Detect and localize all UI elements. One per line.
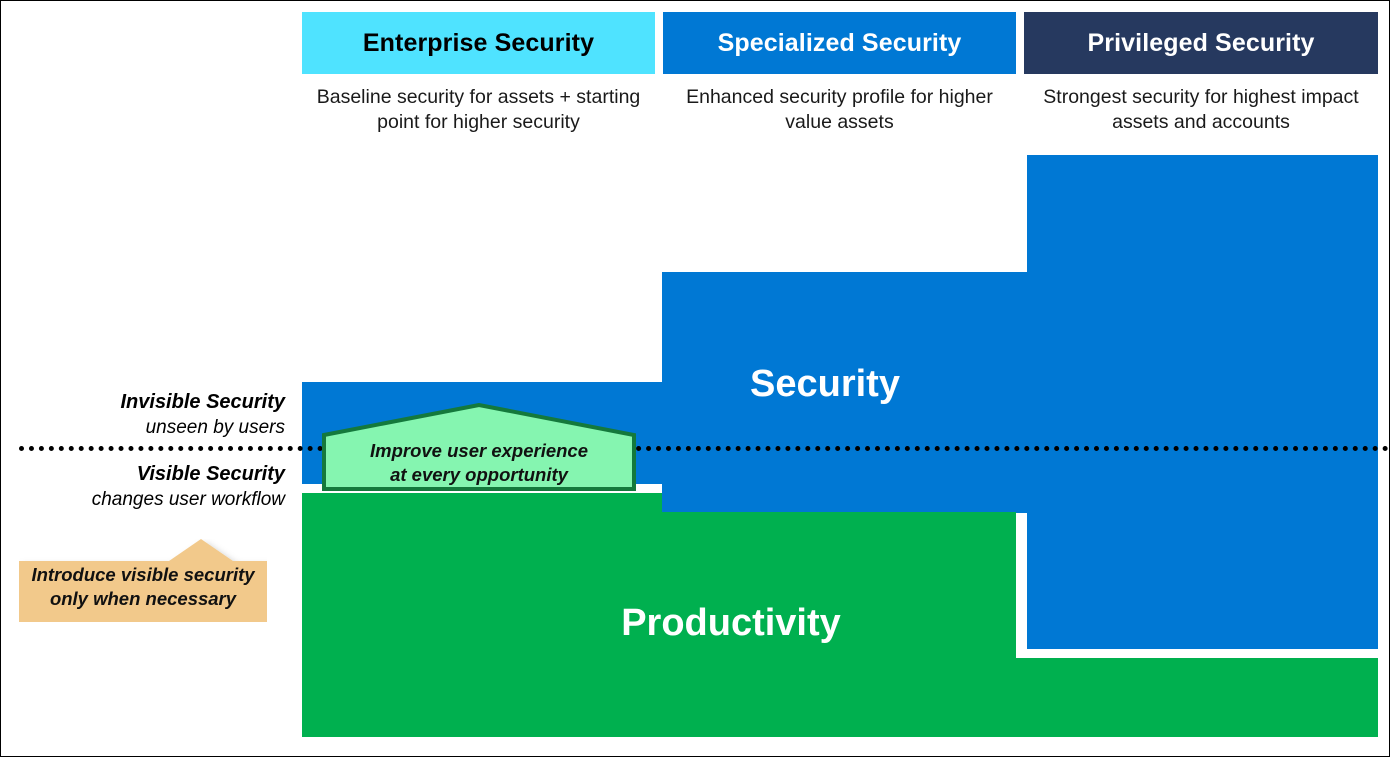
axis-label-visible-subtitle: changes user workflow (92, 487, 285, 512)
callout-improve-user-experience: Improve user experience at every opportu… (322, 403, 636, 491)
security-area-privileged (1027, 155, 1378, 649)
callout-introduce-visible-security: Introduce visible security only when nec… (19, 539, 267, 622)
tier-header-specialized[interactable]: Specialized Security (663, 12, 1016, 74)
productivity-area-privileged (1016, 658, 1378, 737)
axis-label-invisible-subtitle: unseen by users (120, 415, 285, 440)
callout-orange-text: Introduce visible security only when nec… (19, 563, 267, 611)
security-area-label: Security (705, 363, 945, 406)
diagram-canvas: Security Productivity Enterprise Securit… (0, 0, 1390, 757)
tier-header-enterprise[interactable]: Enterprise Security (302, 12, 655, 74)
axis-label-visible-security: Visible Security changes user workflow (92, 462, 285, 512)
callout-orange-line2: only when necessary (50, 588, 236, 609)
visibility-divider-line (19, 446, 1389, 451)
axis-label-visible-title: Visible Security (92, 462, 285, 487)
tier-description-privileged: Strongest security for highest impact as… (1024, 85, 1378, 135)
tier-description-specialized: Enhanced security profile for higher val… (663, 85, 1016, 135)
callout-green-line2: at every opportunity (390, 464, 568, 485)
axis-label-invisible-title: Invisible Security (120, 390, 285, 415)
callout-green-line1: Improve user experience (370, 440, 588, 461)
axis-label-invisible-security: Invisible Security unseen by users (120, 390, 285, 440)
productivity-area-label: Productivity (601, 602, 861, 645)
tier-title-specialized: Specialized Security (718, 29, 962, 58)
callout-green-text: Improve user experience at every opportu… (322, 439, 636, 487)
callout-orange-line1: Introduce visible security (31, 564, 254, 585)
tier-title-privileged: Privileged Security (1088, 29, 1315, 58)
tier-title-enterprise: Enterprise Security (363, 29, 594, 58)
tier-description-enterprise: Baseline security for assets + starting … (302, 85, 655, 135)
tier-header-privileged[interactable]: Privileged Security (1024, 12, 1378, 74)
